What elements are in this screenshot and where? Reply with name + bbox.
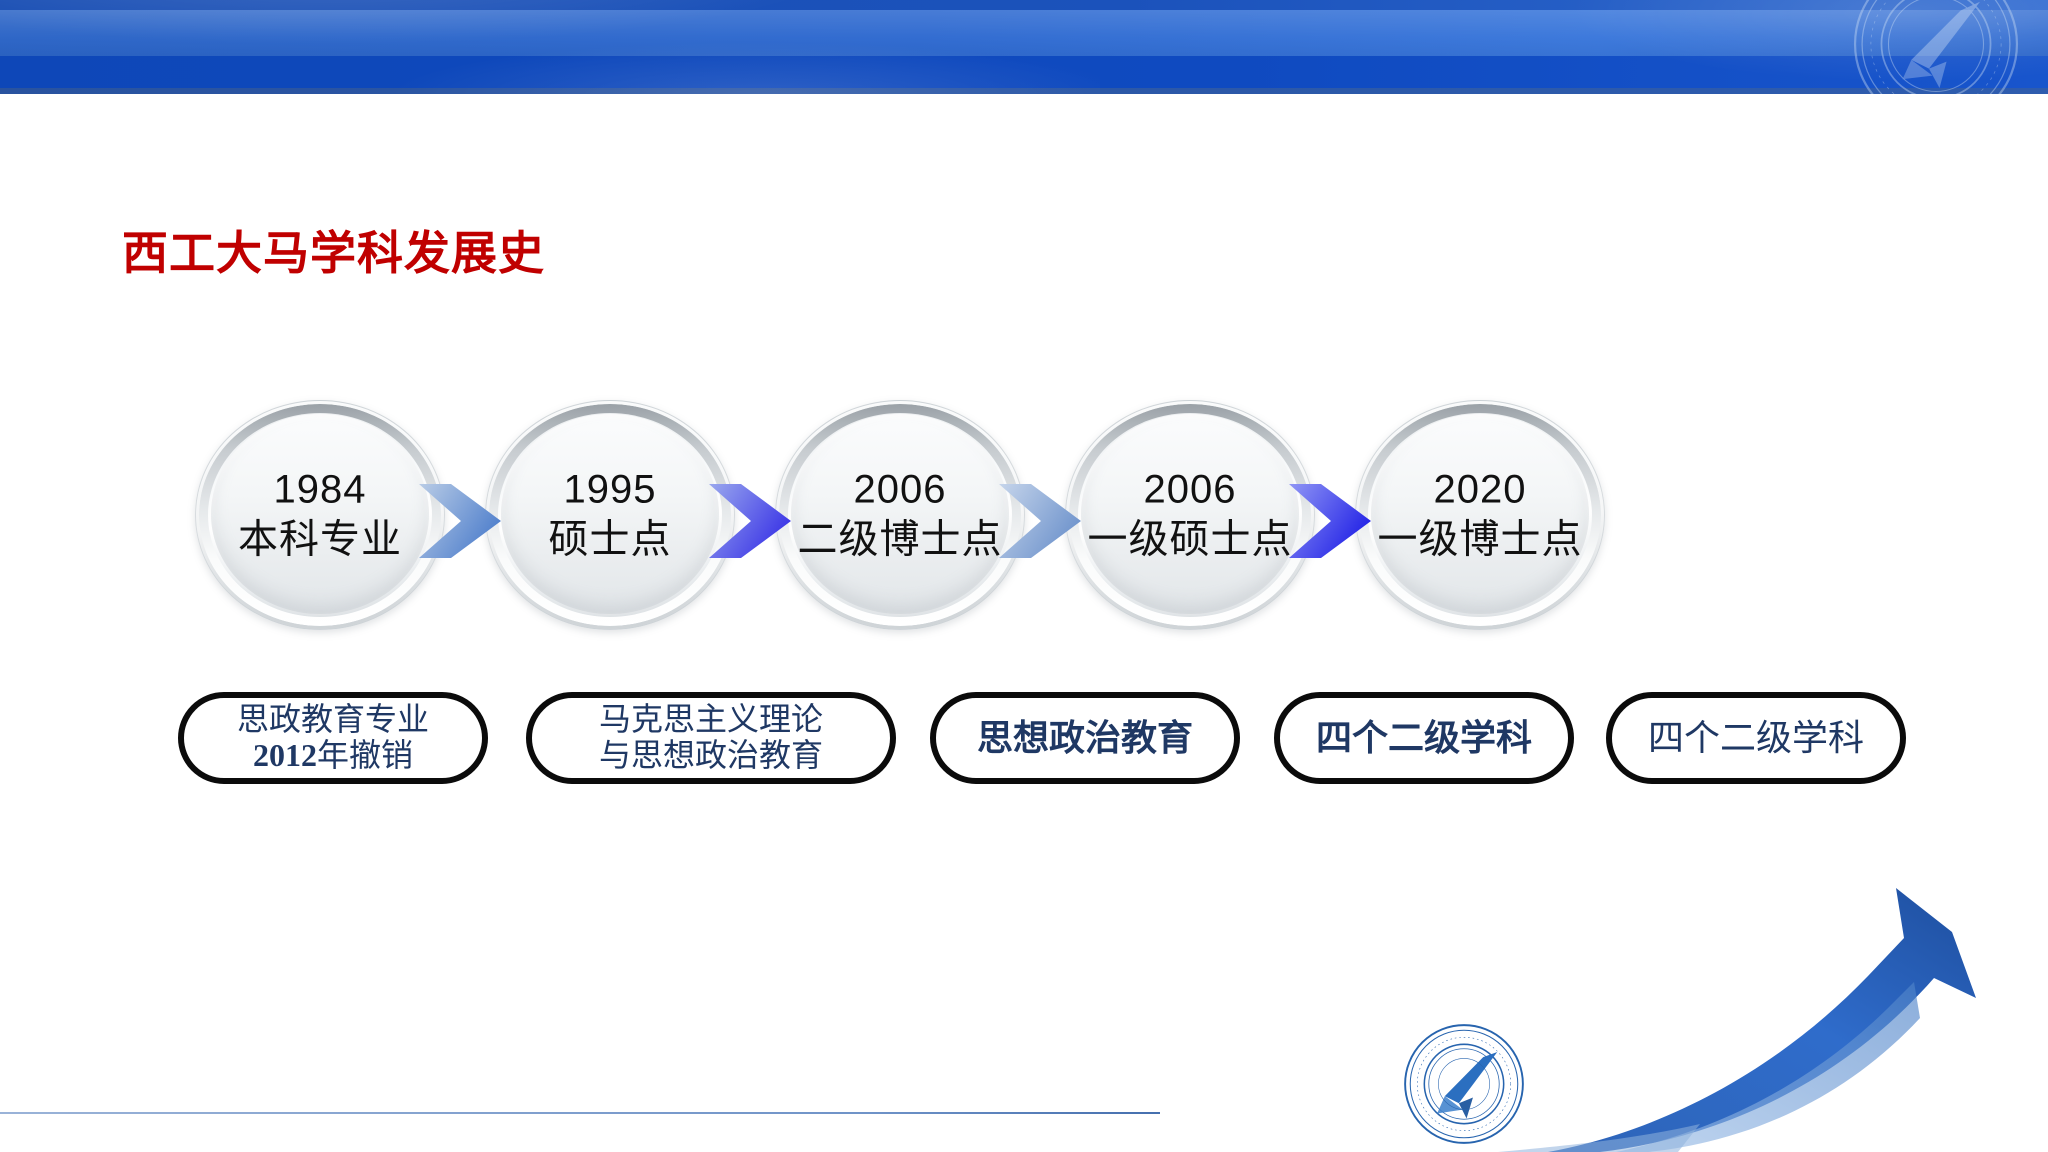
timeline-node-2-label: 硕士点 [485, 517, 735, 564]
timeline-node-5[interactable]: 2020 一级博士点 [1355, 400, 1605, 630]
chevron-right-icon [1287, 482, 1373, 560]
footer-decoration [1348, 762, 2048, 1152]
timeline-node-5-text: 2020 一级博士点 [1355, 466, 1605, 563]
timeline-node-3-year: 2006 [775, 466, 1025, 513]
timeline-node-1-text: 1984 本科专业 [195, 466, 445, 563]
timeline-node-5-year: 2020 [1355, 466, 1605, 513]
chevron-right-icon [997, 482, 1083, 560]
timeline-node-4-text: 2006 一级硕士点 [1065, 466, 1315, 563]
caption-pill-5-line-1: 四个二级学科 [1648, 718, 1864, 758]
caption-pill-5[interactable]: 四个二级学科 [1606, 692, 1906, 784]
page-title: 西工大马学科发展史 [122, 217, 545, 283]
timeline-node-4-label: 一级硕士点 [1065, 517, 1315, 564]
caption-pill-4[interactable]: 四个二级学科 [1274, 692, 1574, 784]
blue-swoosh-icon [1348, 762, 2048, 1152]
timeline-node-4-year: 2006 [1065, 466, 1315, 513]
caption-pill-1-line-1: 思政教育专业 [237, 702, 429, 738]
timeline-node-1-label: 本科专业 [195, 517, 445, 564]
timeline-node-1[interactable]: 1984 本科专业 [195, 400, 445, 630]
nwpu-seal-icon [1400, 1020, 1528, 1148]
timeline-node-5-label: 一级博士点 [1355, 517, 1605, 564]
timeline-node-3-text: 2006 二级博士点 [775, 466, 1025, 563]
caption-pill-1-suffix: 年撤销 [317, 737, 413, 773]
caption-pill-1[interactable]: 思政教育专业 2012年撤销 [178, 692, 488, 784]
chevron-right-icon [417, 482, 503, 560]
timeline-node-1-year: 1984 [195, 466, 445, 513]
caption-pill-2-line-2: 与思想政治教育 [599, 738, 823, 774]
footer-rule [0, 1112, 1160, 1114]
timeline-node-3-label: 二级博士点 [775, 517, 1025, 564]
timeline-node-3[interactable]: 2006 二级博士点 [775, 400, 1025, 630]
chevron-right-icon [707, 482, 793, 560]
caption-pill-3-line-1: 思想政治教育 [977, 718, 1193, 758]
header-banner [0, 0, 2048, 94]
caption-pill-1-strong: 2012 [253, 737, 317, 773]
caption-row: 思政教育专业 2012年撤销 马克思主义理论 与思想政治教育 思想政治教育 四个… [178, 692, 1918, 798]
caption-pill-4-line-1: 四个二级学科 [1316, 718, 1532, 758]
nwpu-seal-icon [1848, 0, 2024, 94]
caption-pill-2[interactable]: 马克思主义理论 与思想政治教育 [526, 692, 896, 784]
timeline-node-2-text: 1995 硕士点 [485, 466, 735, 563]
timeline: 1984 本科专业 1995 硕士点 [195, 400, 1875, 630]
caption-pill-3[interactable]: 思想政治教育 [930, 692, 1240, 784]
timeline-node-2-year: 1995 [485, 466, 735, 513]
timeline-node-2[interactable]: 1995 硕士点 [485, 400, 735, 630]
timeline-node-4[interactable]: 2006 一级硕士点 [1065, 400, 1315, 630]
header-swoosh-left [0, 0, 1100, 94]
caption-pill-1-line-2: 2012年撤销 [253, 738, 413, 774]
caption-pill-2-line-1: 马克思主义理论 [599, 702, 823, 738]
